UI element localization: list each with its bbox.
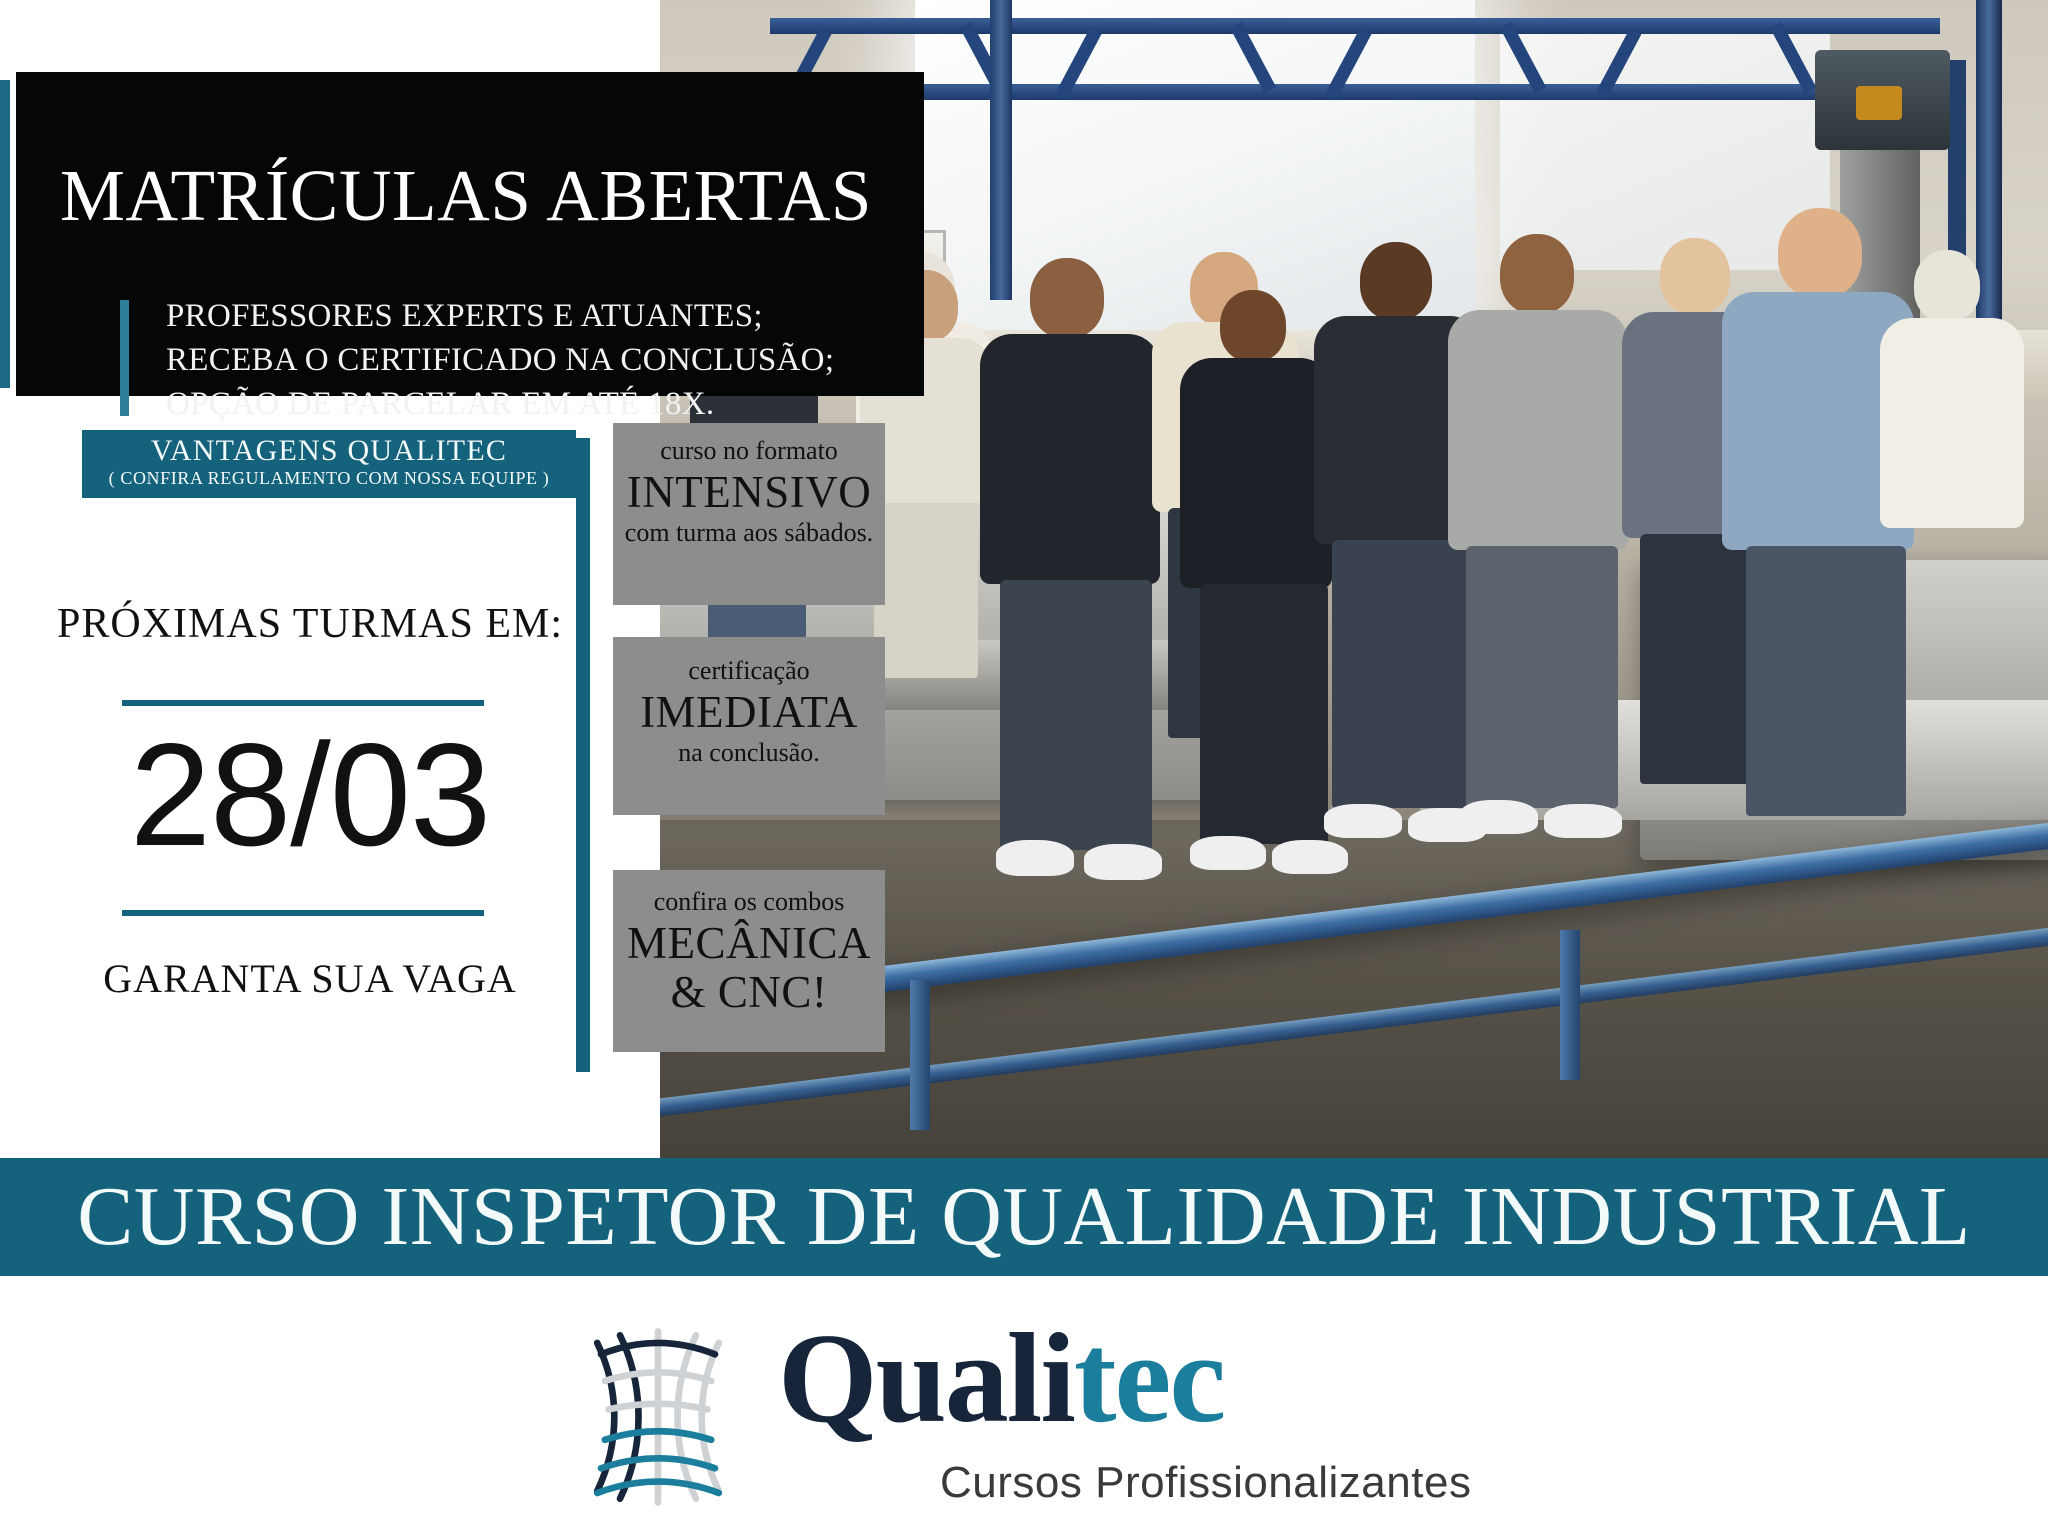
feature-top-text: certificação (613, 655, 885, 688)
logo-wordmark: Qualitec (778, 1314, 1224, 1442)
advantages-banner: VANTAGENS QUALITEC ( CONFIRA REGULAMENTO… (82, 430, 576, 498)
rail-post (910, 980, 930, 1130)
web-mark-icon (560, 1322, 756, 1512)
drill-press-knob (1856, 86, 1902, 120)
bullet-item: OPÇÃO DE PARCELAR EM ATÉ 18X. (166, 382, 834, 426)
feature-top-text: confira os combos (613, 886, 885, 919)
course-banner: CURSO INSPETOR DE QUALIDADE INDUSTRIAL (0, 1158, 2048, 1276)
feature-main-text-2: & CNC! (613, 968, 885, 1018)
bullet-item: PROFESSORES EXPERTS E ATUANTES; (166, 294, 834, 338)
feature-main-text: IMEDIATA (613, 688, 885, 738)
promo-poster: MATRÍCULAS ABERTAS PROFESSORES EXPERTS E… (0, 0, 2048, 1536)
ceiling-truss-top (770, 18, 1940, 34)
headline-box: MATRÍCULAS ABERTAS PROFESSORES EXPERTS E… (16, 72, 924, 396)
feature-bottom-text: na conclusão. (613, 737, 885, 770)
next-class-date: 28/03 (40, 722, 580, 868)
feature-main-text: MECÂNICA (613, 919, 885, 969)
rail-post (1560, 930, 1580, 1080)
photo-window-right (1500, 20, 1830, 270)
feature-top-text: curso no formato (613, 435, 885, 468)
bullet-item: RECEBA O CERTIFICADO NA CONCLUSÃO; (166, 338, 834, 382)
feature-box-imediata: certificação IMEDIATA na conclusão. (613, 637, 885, 815)
advantages-subtitle: ( CONFIRA REGULAMENTO COM NOSSA EQUIPE ) (82, 468, 576, 489)
logo-tagline: Cursos Profissionalizantes (940, 1458, 1471, 1508)
bullet-accent-bar (120, 300, 129, 416)
page-title: MATRÍCULAS ABERTAS (60, 154, 872, 238)
logo-word-tec: tec (1074, 1307, 1224, 1449)
feature-box-mecanica-cnc: confira os combos MECÂNICA & CNC! (613, 870, 885, 1052)
next-classes-label: PRÓXIMAS TURMAS EM: (40, 600, 580, 648)
course-banner-text: CURSO INSPETOR DE QUALIDADE INDUSTRIAL (0, 1158, 2048, 1276)
feature-main-text: INTENSIVO (613, 468, 885, 518)
headline-bullets: PROFESSORES EXPERTS E ATUANTES; RECEBA O… (166, 294, 834, 427)
advantages-title: VANTAGENS QUALITEC (82, 430, 576, 468)
structural-column-left (990, 0, 1012, 300)
logo-word-quali: Quali (778, 1307, 1074, 1449)
cta-text: GARANTA SUA VAGA (40, 955, 580, 1002)
divider-bottom (122, 910, 484, 916)
divider-top (122, 700, 484, 706)
qualitec-logo: Qualitec Cursos Profissionalizantes (560, 1318, 1500, 1518)
feature-bottom-text: com turma aos sábados. (613, 517, 885, 550)
feature-box-intensivo: curso no formato INTENSIVO com turma aos… (613, 423, 885, 605)
ceiling-truss-bottom (770, 84, 1940, 100)
